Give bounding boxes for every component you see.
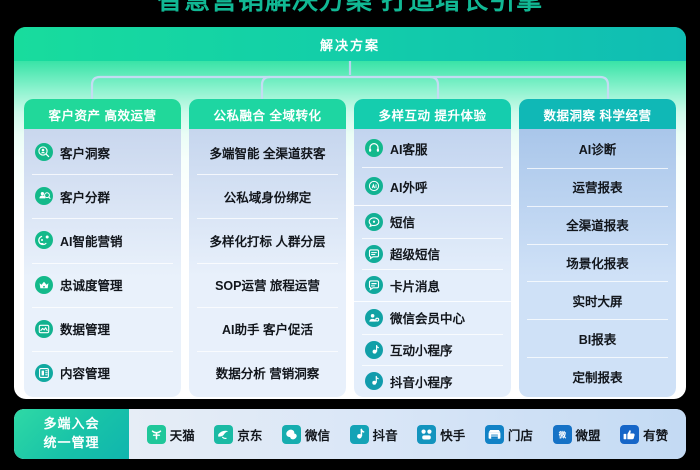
list-item[interactable]: 定制报表: [519, 357, 676, 395]
list-item-label: BI报表: [579, 329, 617, 348]
channel-jd[interactable]: 京东: [214, 425, 262, 444]
channel-label: 快手: [440, 425, 465, 444]
list-item-label: AI智能营销: [60, 231, 123, 250]
list-item-label: 内容管理: [60, 363, 110, 382]
channel-bar-title: 多端入会 统一管理: [14, 409, 129, 459]
channel-youzan[interactable]: 有赞: [620, 425, 668, 444]
sms-icon: [365, 213, 383, 231]
list-item-label: AI助手 客户促活: [222, 319, 313, 338]
svg-text:微: 微: [557, 430, 566, 439]
list-item[interactable]: 客户分群: [24, 174, 181, 218]
youzan-icon: [620, 425, 639, 444]
channel-kuaishou[interactable]: 快手: [417, 425, 465, 444]
channel-bar-title-line1: 多端入会: [43, 415, 99, 434]
jd-icon: [214, 425, 233, 444]
channel-store[interactable]: 门店: [485, 425, 533, 444]
list-item-label: 运营报表: [572, 177, 622, 196]
list-item[interactable]: 多样化打标 人群分层: [189, 218, 346, 262]
wechat-icon: [282, 425, 301, 444]
column-body-2: 多端智能 全渠道获客 公私域身份绑定 多样化打标 人群分层 SOP运营 旅程运营…: [189, 129, 346, 397]
list-item-label: 场景化报表: [566, 253, 629, 272]
list-item-label: 公私域身份绑定: [224, 187, 312, 206]
solution-header-label: 解决方案: [14, 27, 686, 61]
column-data-insight: 数据洞察 科学经营 AI诊断 运营报表 全渠道报表 场景化报表 实时大屏 BI报…: [519, 99, 676, 397]
list-item-label: 数据管理: [60, 319, 110, 338]
list-item-label: 抖音小程序: [390, 372, 453, 391]
list-item-label: AI外呼: [390, 177, 428, 196]
channel-label: 京东: [237, 425, 262, 444]
channel-bar-title-line2: 统一管理: [43, 434, 99, 453]
column-body-4: AI诊断 运营报表 全渠道报表 场景化报表 实时大屏 BI报表 定制报表: [519, 129, 676, 397]
ai-call-icon: [365, 177, 383, 195]
loyalty-crown-icon: [35, 276, 53, 294]
channel-label: 抖音: [373, 425, 398, 444]
column-header-1: 客户资产 高效运营: [24, 99, 181, 129]
list-item-label: 微信会员中心: [390, 308, 465, 327]
douyin-miniprogram-icon: [365, 372, 383, 390]
channel-weimob[interactable]: 微 微盟: [553, 425, 601, 444]
column-body-3: AI客服 AI外呼: [354, 129, 511, 397]
list-item[interactable]: 微信会员中心: [354, 302, 511, 334]
list-item[interactable]: 全渠道报表: [519, 206, 676, 244]
data-management-icon: [35, 320, 53, 338]
list-item[interactable]: 客户洞察: [24, 130, 181, 174]
list-item-label: AI客服: [390, 139, 428, 158]
item-group-channels: 微信会员中心 互动小程序 抖音小程序: [354, 301, 511, 397]
list-item[interactable]: 运营报表: [519, 168, 676, 206]
list-item-label: 客户洞察: [60, 143, 110, 162]
list-item-label: 实时大屏: [572, 291, 622, 310]
list-item[interactable]: 场景化报表: [519, 244, 676, 282]
list-item-label: 多端智能 全渠道获客: [210, 143, 326, 162]
solution-columns: 客户资产 高效运营 客户洞察 客户分群: [24, 99, 676, 397]
list-item-label: 全渠道报表: [566, 215, 629, 234]
store-icon: [485, 425, 504, 444]
banner-title: 智慧营销解决方案 打造增长引擎: [0, 0, 700, 17]
list-item[interactable]: 实时大屏: [519, 281, 676, 319]
list-item[interactable]: 互动小程序: [354, 334, 511, 366]
item-group-messaging: 短信 超级短信 卡片消息: [354, 205, 511, 301]
content-management-icon: [35, 364, 53, 382]
list-item[interactable]: AI智能营销: [24, 218, 181, 262]
column-body-1: 客户洞察 客户分群 AI智能营销: [24, 129, 181, 397]
channel-label: 微信: [305, 425, 330, 444]
super-sms-icon: [365, 245, 383, 263]
list-item[interactable]: 公私域身份绑定: [189, 174, 346, 218]
column-header-3: 多样互动 提升体验: [354, 99, 511, 129]
column-interaction: 多样互动 提升体验 AI客服 AI外: [354, 99, 511, 397]
list-item[interactable]: 数据管理: [24, 307, 181, 351]
channel-label: 有赞: [643, 425, 668, 444]
list-item[interactable]: 内容管理: [24, 351, 181, 395]
card-message-icon: [365, 276, 383, 294]
list-item[interactable]: AI外呼: [354, 167, 511, 205]
list-item[interactable]: 多端智能 全渠道获客: [189, 130, 346, 174]
list-item-label: 互动小程序: [390, 340, 453, 359]
channel-tmall[interactable]: 天猫: [147, 425, 195, 444]
channel-label: 微盟: [576, 425, 601, 444]
list-item-label: SOP运营 旅程运营: [215, 275, 320, 294]
list-item-label: 多样化打标 人群分层: [210, 231, 326, 250]
column-public-private: 公私融合 全域转化 多端智能 全渠道获客 公私域身份绑定 多样化打标 人群分层 …: [189, 99, 346, 397]
list-item-label: 客户分群: [60, 187, 110, 206]
tmall-icon: [147, 425, 166, 444]
list-item-label: 数据分析 营销洞察: [216, 363, 319, 382]
channel-wechat[interactable]: 微信: [282, 425, 330, 444]
list-item[interactable]: 忠诚度管理: [24, 263, 181, 307]
list-item[interactable]: AI助手 客户促活: [189, 307, 346, 351]
list-item[interactable]: 短信: [354, 206, 511, 238]
channel-list: 天猫 京东 微信 抖音: [129, 409, 686, 459]
channel-label: 门店: [508, 425, 533, 444]
column-header-2: 公私融合 全域转化: [189, 99, 346, 129]
infographic-root: 智慧营销解决方案 打造增长引擎 解决方案 客户资产 高效运营 客户洞察: [0, 0, 700, 470]
list-item[interactable]: 卡片消息: [354, 269, 511, 301]
list-item-label: 定制报表: [572, 367, 622, 386]
weimob-icon: 微: [553, 425, 572, 444]
main-card: 解决方案 客户资产 高效运营 客户洞察: [14, 27, 686, 399]
list-item[interactable]: AI客服: [354, 129, 511, 167]
list-item[interactable]: AI诊断: [519, 130, 676, 168]
list-item[interactable]: 抖音小程序: [354, 365, 511, 397]
list-item-label: 短信: [390, 212, 415, 231]
ai-marketing-icon: [35, 231, 53, 249]
channel-bar: 多端入会 统一管理 天猫 京东 微信: [14, 409, 686, 459]
list-item-label: 忠诚度管理: [60, 275, 123, 294]
list-item-label: AI诊断: [579, 139, 617, 158]
column-customer-asset: 客户资产 高效运营 客户洞察 客户分群: [24, 99, 181, 397]
kuaishou-icon: [417, 425, 436, 444]
headset-icon: [365, 139, 383, 157]
list-item[interactable]: 数据分析 营销洞察: [189, 351, 346, 395]
column-header-4: 数据洞察 科学经营: [519, 99, 676, 129]
customer-segment-icon: [35, 187, 53, 205]
list-item-label: 超级短信: [390, 244, 440, 263]
wechat-member-icon: [365, 309, 383, 327]
douyin-icon: [350, 425, 369, 444]
list-item-label: 卡片消息: [390, 276, 440, 295]
connector-tree: [14, 61, 686, 101]
list-item[interactable]: SOP运营 旅程运营: [189, 263, 346, 307]
item-group-ai: AI客服 AI外呼: [354, 129, 511, 205]
channel-label: 天猫: [170, 425, 195, 444]
channel-douyin[interactable]: 抖音: [350, 425, 398, 444]
list-item[interactable]: 超级短信: [354, 238, 511, 270]
list-item[interactable]: BI报表: [519, 319, 676, 357]
miniprogram-icon: [365, 341, 383, 359]
customer-insight-icon: [35, 143, 53, 161]
